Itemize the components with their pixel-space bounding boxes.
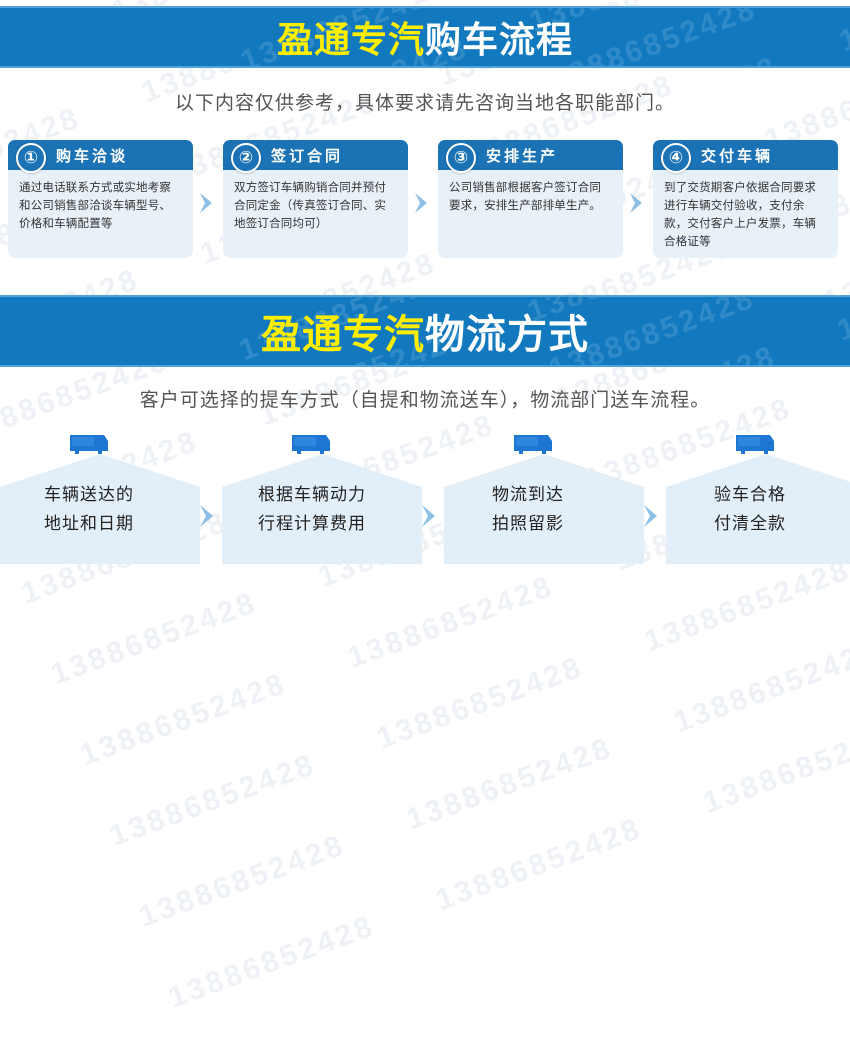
banner-heading: 物流方式 [425, 313, 589, 357]
step-description: 公司销售部根据客户签订合同要求，安排生产部排单生产。 [438, 170, 623, 215]
logistics-banner: 13886852428 13886852428 13886852428 1388… [0, 295, 850, 367]
logistics-chevron-icon-2 [420, 504, 440, 528]
brand-name: 盈通专汽 [277, 19, 425, 60]
step-card-header: ② 签订合同 [223, 140, 408, 170]
brand-name: 盈通专汽 [261, 313, 425, 357]
purchase-flow-banner: 13886852428 13886852428 13886852428 1388… [0, 6, 850, 68]
purchase-flow-subtitle: 以下内容仅供参考，具体要求请先咨询当地各职能部门。 [0, 88, 850, 115]
logistics-card-line1: 验车合格 [714, 480, 850, 509]
banner-heading: 购车流程 [425, 19, 573, 60]
purchase-step-list: ① 购车洽谈 通过电话联系方式或实地考察和公司销售部洽谈车辆型号、价格和车辆配置… [0, 140, 850, 260]
logistics-card-line2: 地址和日期 [44, 509, 200, 538]
step-title: 交付车辆 [701, 145, 773, 166]
truck-icon [734, 432, 778, 456]
step-card-3[interactable]: ③ 安排生产 公司销售部根据客户签订合同要求，安排生产部排单生产。 [438, 140, 623, 258]
step-card-2[interactable]: ② 签订合同 双方签订车辆购销合同并预付合同定金（传真签订合同、实地签订合同均可… [223, 140, 408, 258]
step-description: 通过电话联系方式或实地考察和公司销售部洽谈车辆型号、价格和车辆配置等 [8, 170, 193, 233]
step-title: 签订合同 [271, 145, 343, 166]
step-number-badge: ② [231, 143, 261, 173]
watermark-row: 13886852428 13886852428 13886852428 1388… [155, 627, 850, 1040]
step-card-header: ④ 交付车辆 [653, 140, 838, 170]
logistics-chevron-icon-1 [198, 504, 218, 528]
step-chevron-icon-2 [413, 192, 431, 214]
logistics-card-3[interactable]: 物流到达 拍照留影 [444, 454, 644, 564]
step-chevron-icon-3 [628, 192, 646, 214]
logistics-card-text: 根据车辆动力 行程计算费用 [222, 480, 422, 538]
logistics-card-text: 物流到达 拍照留影 [444, 480, 644, 538]
logistics-card-list: 车辆送达的 地址和日期 根据车辆动力 行程计算费用 物流到达 拍照留影 [0, 432, 850, 564]
logistics-card-2[interactable]: 根据车辆动力 行程计算费用 [222, 454, 422, 564]
logistics-card-line1: 车辆送达的 [44, 480, 200, 509]
step-card-4[interactable]: ④ 交付车辆 到了交货期客户依据合同要求进行车辆交付验收，支付余款，交付客户上户… [653, 140, 838, 258]
logistics-card-text: 验车合格 付清全款 [666, 480, 850, 538]
logistics-card-line2: 付清全款 [714, 509, 850, 538]
logistics-card-1[interactable]: 车辆送达的 地址和日期 [0, 454, 200, 564]
step-card-1[interactable]: ① 购车洽谈 通过电话联系方式或实地考察和公司销售部洽谈车辆型号、价格和车辆配置… [8, 140, 193, 258]
logistics-card-line1: 根据车辆动力 [258, 480, 422, 509]
watermark-row: 13886852428 13886852428 13886852428 1388… [0, 62, 850, 475]
step-title: 安排生产 [486, 145, 558, 166]
step-card-header: ③ 安排生产 [438, 140, 623, 170]
step-description: 双方签订车辆购销合同并预付合同定金（传真签订合同、实地签订合同均可） [223, 170, 408, 233]
logistics-card-line2: 行程计算费用 [258, 509, 422, 538]
step-description: 到了交货期客户依据合同要求进行车辆交付验收，支付余款，交付客户上户发票，车辆合格… [653, 170, 838, 251]
purchase-flow-banner-title: 盈通专汽购车流程 [277, 11, 573, 63]
step-number-badge: ④ [661, 143, 691, 173]
truck-icon [290, 432, 334, 456]
truck-icon [512, 432, 556, 456]
step-title: 购车洽谈 [56, 145, 128, 166]
step-number-badge: ③ [446, 143, 476, 173]
step-card-header: ① 购车洽谈 [8, 140, 193, 170]
logistics-card-line1: 物流到达 [492, 480, 644, 509]
watermark-row: 13886852428 13886852428 13886852428 1388… [8, 223, 850, 636]
page-watermark: 13886852428 13886852428 13886852428 1388… [0, 0, 850, 826]
step-chevron-icon-1 [198, 192, 216, 214]
logistics-chevron-icon-3 [642, 504, 662, 528]
logistics-card-4[interactable]: 验车合格 付清全款 [666, 454, 850, 564]
logistics-card-line2: 拍照留影 [492, 509, 644, 538]
logistics-card-text: 车辆送达的 地址和日期 [0, 480, 200, 538]
truck-icon [68, 432, 112, 456]
logistics-subtitle: 客户可选择的提车方式（自提和物流送车），物流部门送车流程。 [0, 385, 850, 412]
logistics-banner-title: 盈通专汽物流方式 [261, 302, 589, 360]
step-number-badge: ① [16, 143, 46, 173]
watermark-row: 13886852428 13886852428 13886852428 1388… [126, 546, 850, 959]
